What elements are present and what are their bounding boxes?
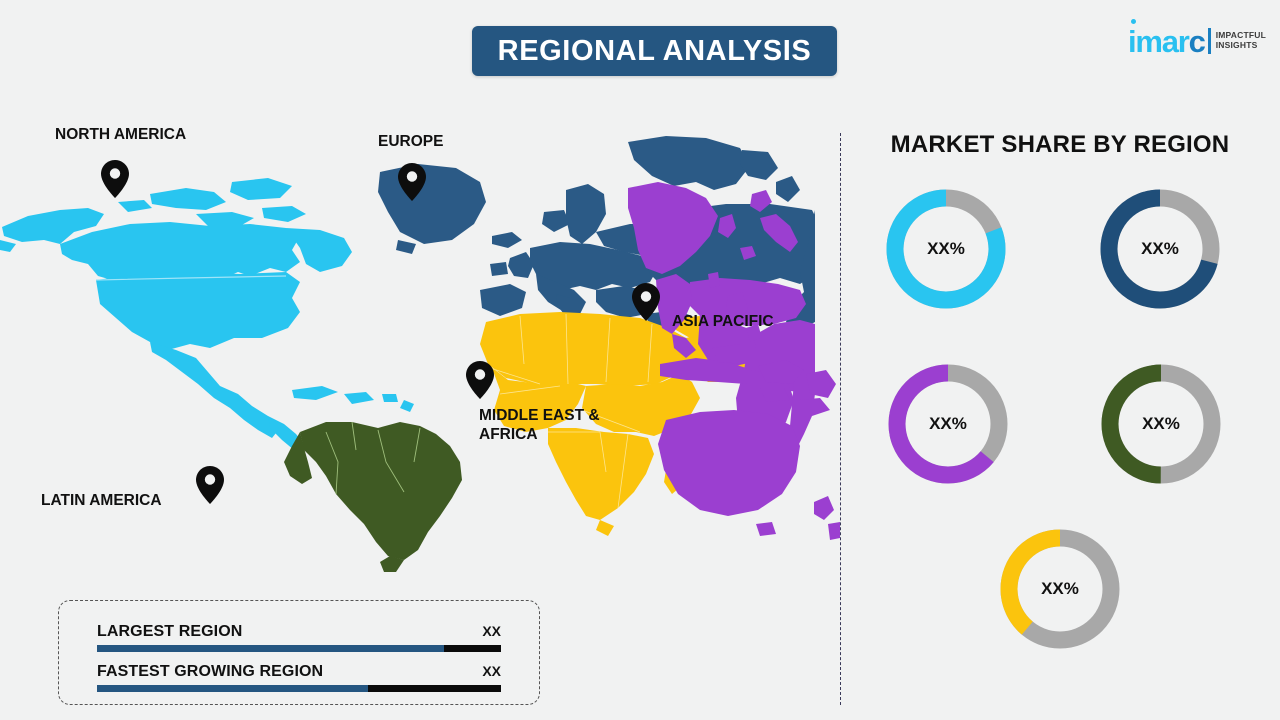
donut-label-europe: XX% [1100,189,1220,309]
world-map-east [600,132,840,572]
stat-row-largest-region: LARGEST REGION XX [97,623,501,652]
donut-chart-middle-east-africa: XX% [1000,529,1120,649]
page-title-banner: REGIONAL ANALYSIS [472,26,837,76]
logo-wordmark: imarc [1128,26,1205,57]
logo-tagline: IMPACTFUL INSIGHTS [1216,31,1266,51]
vertical-divider [840,133,841,705]
region-label-asia-pacific: ASIA PACIFIC [672,313,774,332]
logo-divider-bar [1208,28,1211,54]
stat-row-fastest-growing-region: FASTEST GROWING REGION XX [97,663,501,692]
stats-summary-box: LARGEST REGION XX FASTEST GROWING REGION… [58,600,540,705]
logo-tagline-line2: INSIGHTS [1216,41,1266,51]
donut-label-latin-america: XX% [1101,364,1221,484]
region-label-latin-america: LATIN AMERICA [41,492,162,511]
stat-bar-fill-fastest-growing-region [97,685,368,692]
logo-word-c: c [1189,24,1205,59]
donut-label-middle-east-africa: XX% [1000,529,1120,649]
donut-chart-asia-pacific: XX% [888,364,1008,484]
map-pin-middle-east-africa-icon[interactable] [466,361,494,399]
map-pin-asia-pacific-icon[interactable] [632,283,660,321]
map-pin-europe-icon[interactable] [398,163,426,201]
map-region-north-america [0,178,414,450]
region-label-europe: EUROPE [378,133,443,152]
map-region-latin-america [284,422,462,572]
donut-chart-north-america: XX% [886,189,1006,309]
imarc-logo: imarc IMPACTFUL INSIGHTS [1128,22,1266,60]
region-label-middle-east-africa: MIDDLE EAST & AFRICA [479,407,600,445]
stat-bar-largest-region [97,645,501,652]
logo-word-main: imar [1128,24,1189,59]
donut-chart-latin-america: XX% [1101,364,1221,484]
infographic-canvas: REGIONAL ANALYSIS imarc IMPACTFUL INSIGH… [0,0,1280,720]
logo-dot-icon [1131,19,1136,24]
page-title: REGIONAL ANALYSIS [498,35,812,68]
donut-label-north-america: XX% [886,189,1006,309]
stat-label-fastest-growing-region: FASTEST GROWING REGION [97,663,323,681]
donut-label-asia-pacific: XX% [888,364,1008,484]
region-label-north-america: NORTH AMERICA [55,126,186,145]
donut-chart-europe: XX% [1100,189,1220,309]
stat-bar-fastest-growing-region [97,685,501,692]
stat-value-largest-region: XX [482,623,501,639]
panel-title: MARKET SHARE BY REGION [840,131,1280,159]
map-region-asia-pacific-east [628,136,840,540]
stat-bar-fill-largest-region [97,645,444,652]
stat-value-fastest-growing-region: XX [482,663,501,679]
stat-label-largest-region: LARGEST REGION [97,623,242,641]
map-pin-latin-america-icon[interactable] [196,466,224,504]
map-pin-north-america-icon[interactable] [101,160,129,198]
